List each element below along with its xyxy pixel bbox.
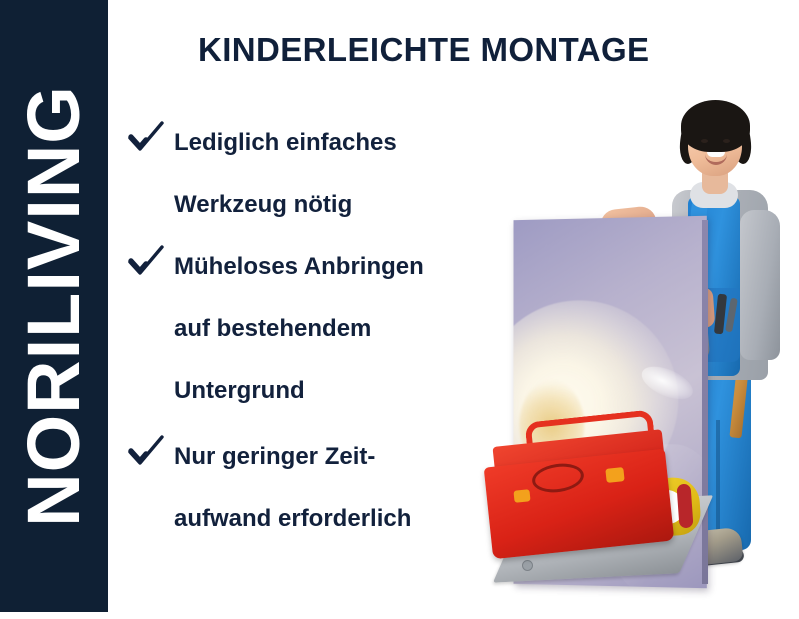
list-item-line: aufwand erforderlich <box>174 488 411 550</box>
list-item-line: Werkzeug nötig <box>174 174 397 236</box>
red-toolbox <box>484 449 675 560</box>
list-item-line: Nur geringer Zeit- <box>174 426 411 488</box>
list-item-text: Nur geringer Zeit- aufwand erforderlich <box>174 426 411 550</box>
toolbox-latch <box>605 467 624 483</box>
jacket-sleeve <box>740 210 780 360</box>
trouser-seam <box>716 420 720 540</box>
hair <box>681 100 750 152</box>
list-item-text: Lediglich einfaches Werkzeug nötig <box>174 112 397 236</box>
promo-banner: NORILIVING KINDERLEICHTE MONTAGE Ledigli… <box>0 0 799 619</box>
list-item-line: auf bestehendem <box>174 298 424 360</box>
list-item: Nur geringer Zeit- aufwand erforderlich <box>126 426 411 550</box>
list-item: Müheloses Anbringen auf bestehendem Unte… <box>126 236 424 422</box>
brand-wordmark: NORILIVING <box>17 85 91 527</box>
checkmark-icon <box>126 118 166 158</box>
list-item-text: Müheloses Anbringen auf bestehendem Unte… <box>174 236 424 422</box>
brand-band: NORILIVING <box>0 0 108 612</box>
list-item-line: Untergrund <box>174 360 424 422</box>
checkmark-icon <box>126 432 166 472</box>
saw-blade-hole <box>522 560 533 571</box>
toolbox-latch <box>513 489 530 503</box>
product-photo <box>440 60 799 619</box>
panel-edge <box>702 220 708 584</box>
eye-right <box>723 139 730 143</box>
list-item-line: Müheloses Anbringen <box>174 236 424 298</box>
saw-handle-grip <box>676 484 693 529</box>
eye-left <box>701 139 708 143</box>
list-item: Lediglich einfaches Werkzeug nötig <box>126 112 397 236</box>
list-item-line: Lediglich einfaches <box>174 112 397 174</box>
checkmark-icon <box>126 242 166 282</box>
